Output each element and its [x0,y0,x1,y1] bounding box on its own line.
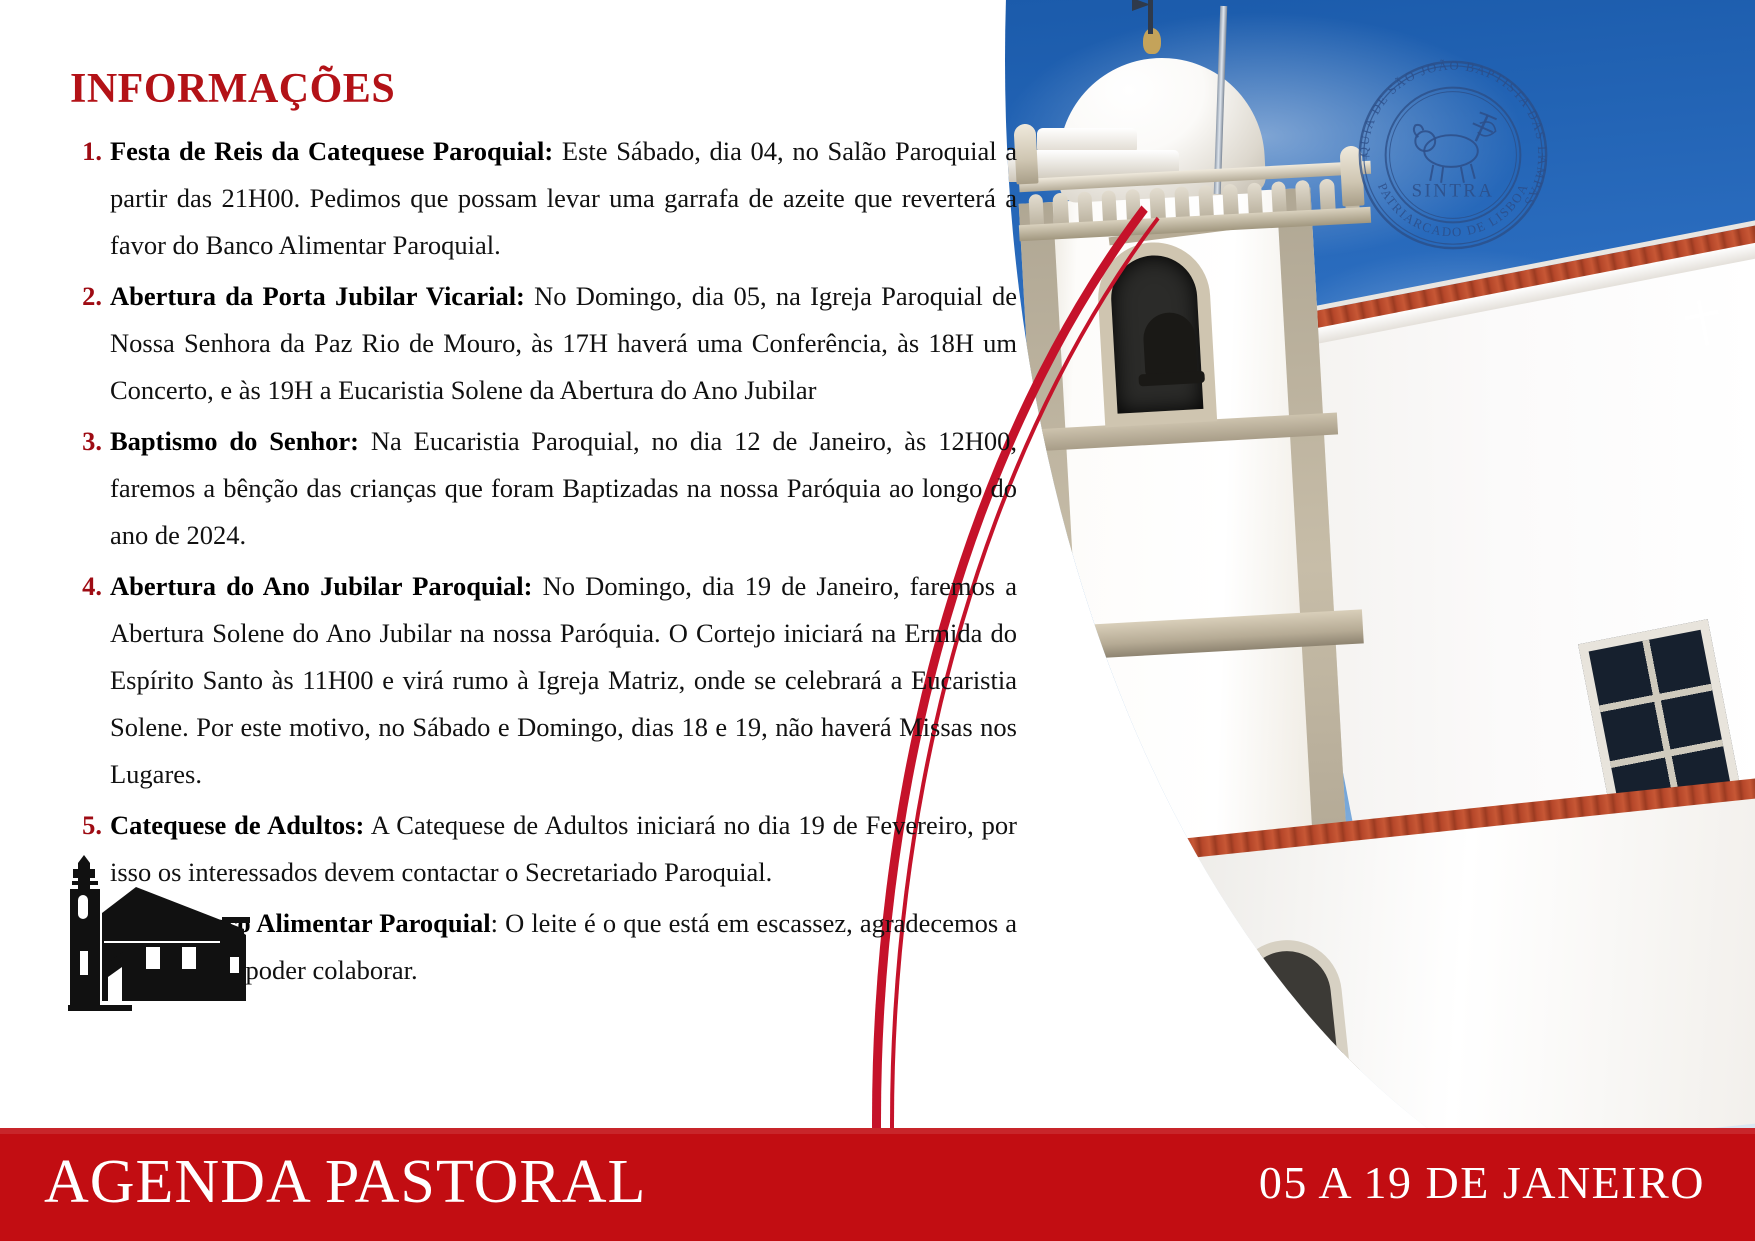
banner-title: AGENDA PASTORAL [44,1151,646,1219]
list-item-heading: Baptismo do Senhor: [110,426,359,456]
list-item: Baptismo do Senhor: Na Eucaristia Paroqu… [62,418,1017,559]
banner-date-range: 05 A 19 DE JANEIRO [1259,1160,1717,1210]
list-item-heading: Abertura do Ano Jubilar Paroquial: [110,571,532,601]
tower-stone-quoin-left [1019,202,1106,1135]
weather-vane-icon [1148,0,1153,34]
seal-cross-left: + [1362,149,1370,165]
seal-cross-right: + [1538,149,1546,165]
tower-carved-emblem [1078,807,1149,921]
poster-page: PARÓQUIA DE SÃO JOÃO BAPTISTA DAS LAMPAS… [0,0,1755,1241]
banner-highlight [0,1128,1755,1134]
bell-arch-opening [1095,239,1217,427]
agnus-dei-lamb-icon [1414,112,1497,182]
list-item-body: No Domingo, dia 19 de Janeiro, faremos a… [110,571,1017,789]
list-item-heading: Catequese de Adultos: [110,810,364,840]
list-item: Festa de Reis da Catequese Paroquial: Es… [62,128,1017,269]
balustrade-pinnacle-left [1013,123,1038,184]
page-title: INFORMAÇÕES [70,68,395,110]
church-bell [1142,311,1197,378]
parish-seal-stamp: PARÓQUIA DE SÃO JOÃO BAPTISTA DAS LAMPAS… [1344,46,1562,264]
list-item-heading: Abertura da Porta Jubilar Vicarial: [110,281,525,311]
church-silhouette-logo [50,855,320,1015]
seal-center-text: SINTRA [1412,181,1495,202]
list-item: Abertura da Porta Jubilar Vicarial: No D… [62,273,1017,414]
list-item: Abertura do Ano Jubilar Paroquial: No Do… [62,563,1017,798]
bottom-banner: AGENDA PASTORAL 05 A 19 DE JANEIRO [0,1128,1755,1241]
list-item-heading: Festa de Reis da Catequese Paroquial: [110,136,553,166]
